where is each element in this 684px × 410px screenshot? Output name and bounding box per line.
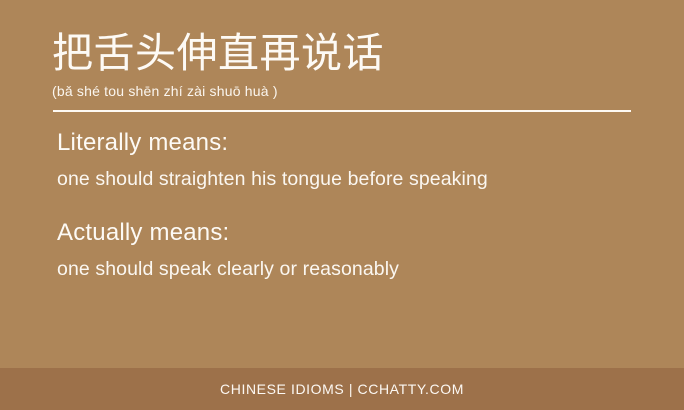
- actual-meaning-block: Actually means: one should speak clearly…: [57, 218, 637, 282]
- footer-attribution: CHINESE IDIOMS | CCHATTY.COM: [220, 380, 464, 398]
- header-divider: [53, 110, 631, 112]
- literal-meaning-text: one should straighten his tongue before …: [57, 167, 637, 192]
- slide-content: Literally means: one should straighten h…: [57, 128, 637, 282]
- idiom-pinyin: (bǎ shé tou shēn zhí zài shuō huà ): [52, 82, 632, 100]
- idiom-title-chinese: 把舌头伸直再说话: [52, 28, 632, 78]
- idiom-slide: 把舌头伸直再说话 (bǎ shé tou shēn zhí zài shuō h…: [0, 0, 684, 410]
- footer-bar: CHINESE IDIOMS | CCHATTY.COM: [0, 368, 684, 410]
- actual-meaning-heading: Actually means:: [57, 218, 637, 248]
- slide-header: 把舌头伸直再说话 (bǎ shé tou shēn zhí zài shuō h…: [52, 28, 632, 100]
- actual-meaning-text: one should speak clearly or reasonably: [57, 257, 637, 282]
- literal-meaning-heading: Literally means:: [57, 128, 637, 158]
- literal-meaning-block: Literally means: one should straighten h…: [57, 128, 637, 192]
